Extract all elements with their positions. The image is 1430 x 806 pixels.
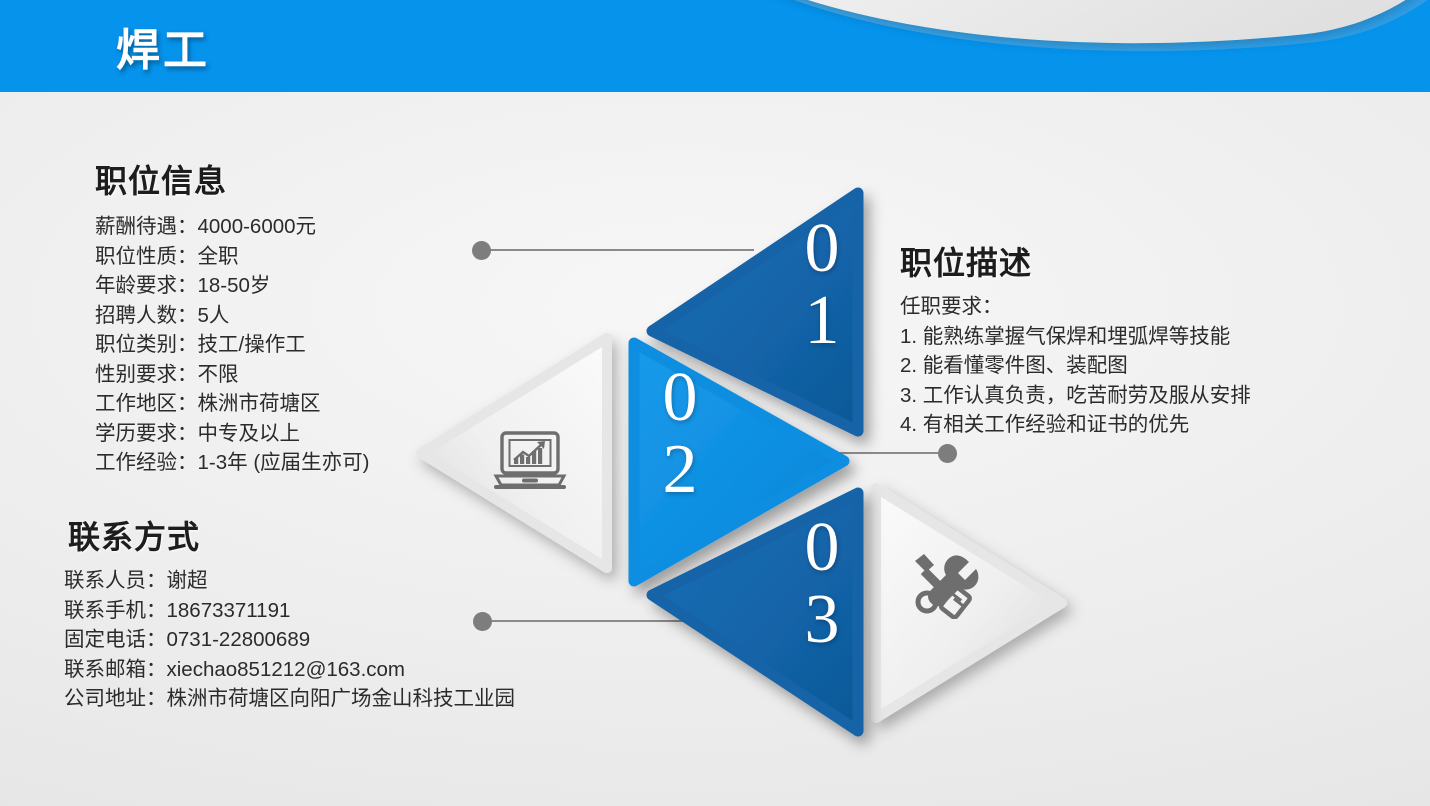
job-info-row: 招聘人数：5人: [95, 301, 369, 331]
header-swoosh-white: [594, 0, 1430, 92]
job-desc-heading: 职位描述: [900, 238, 1032, 284]
job-info-row: 职位性质：全职: [95, 242, 369, 272]
job-desc-row: 3. 工作认真负责，吃苦耐劳及服从安排: [900, 381, 1251, 411]
contact-heading: 联系方式: [68, 512, 200, 558]
icon-triangle-laptop: [415, 328, 615, 578]
contact-row: 固定电话：0731-22800689: [64, 625, 515, 655]
contact-row: 联系人员：谢超: [64, 566, 515, 596]
slide-root: 焊工: [0, 0, 1430, 806]
job-info-row: 工作经验：1-3年 (应届生亦可): [95, 448, 369, 478]
job-desc-list: 任职要求： 1. 能熟练掌握气保焊和埋弧焊等技能 2. 能看懂零件图、装配图 3…: [900, 292, 1251, 440]
job-info-row: 薪酬待遇：4000-6000元: [95, 212, 369, 242]
job-info-row: 学历要求：中专及以上: [95, 419, 369, 449]
contact-row: 公司地址：株洲市荷塘区向阳广场金山科技工业园: [64, 684, 515, 714]
connector-dot-top: [472, 241, 491, 260]
icon-triangle-tools: [868, 478, 1068, 728]
contact-row: 联系邮箱：xiechao851212@163.com: [64, 655, 515, 685]
job-info-row: 职位类别：技工/操作工: [95, 330, 369, 360]
contact-row: 联系手机：18673371191: [64, 596, 515, 626]
slide-header: [0, 0, 1430, 92]
job-info-row: 年龄要求：18-50岁: [95, 271, 369, 301]
page-title: 焊工: [116, 14, 210, 78]
contact-list: 联系人员：谢超 联系手机：18673371191 固定电话：0731-22800…: [64, 566, 515, 714]
job-desc-row: 任职要求：: [900, 292, 1251, 322]
job-info-row: 工作地区：株洲市荷塘区: [95, 389, 369, 419]
job-info-row: 性别要求：不限: [95, 360, 369, 390]
step-triangle-03[interactable]: [640, 483, 870, 743]
job-desc-row: 1. 能熟练掌握气保焊和埋弧焊等技能: [900, 322, 1251, 352]
connector-dot-middle: [938, 444, 957, 463]
job-info-heading: 职位信息: [95, 156, 227, 202]
job-desc-row: 2. 能看懂零件图、装配图: [900, 351, 1251, 381]
job-desc-row: 4. 有相关工作经验和证书的优先: [900, 410, 1251, 440]
job-info-list: 薪酬待遇：4000-6000元 职位性质：全职 年龄要求：18-50岁 招聘人数…: [95, 212, 369, 478]
